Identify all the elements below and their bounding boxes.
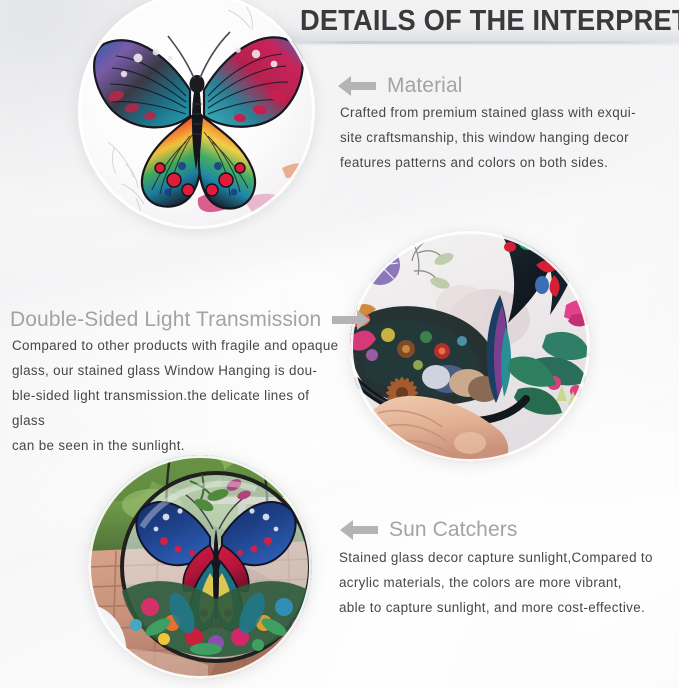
section-label-transmission: Double-Sided Light Transmission [10, 308, 321, 332]
section-label-suncatchers: Sun Catchers [389, 518, 517, 542]
section-heading-material: Material [337, 74, 463, 98]
hand-holding-glass-illustration [350, 231, 590, 462]
arrow-left-icon [339, 519, 379, 541]
body-line: site craftsmanship, this window hanging … [340, 125, 665, 150]
infographic-page: DETAILS OF THE INTERPRETATION [0, 0, 679, 688]
section-heading-transmission: Double-Sided Light Transmission [10, 308, 371, 332]
section-body-suncatchers: Stained glass decor capture sunlight,Com… [339, 545, 671, 620]
page-title: DETAILS OF THE INTERPRETATION [300, 3, 650, 39]
body-line: ble-sided light transmission.the delicat… [12, 383, 342, 433]
body-line: able to capture sunlight, and more cost-… [339, 595, 671, 620]
body-line: Crafted from premium stained glass with … [340, 100, 665, 125]
body-line: glass, our stained glass Window Hanging … [12, 358, 342, 383]
product-image-material [78, 0, 315, 229]
section-body-transmission: Compared to other products with fragile … [12, 333, 342, 458]
body-line: features patterns and colors on both sid… [340, 150, 665, 175]
outdoor-suncatcher-illustration [88, 455, 312, 679]
arrow-left-icon [337, 75, 377, 97]
product-image-transmission [350, 231, 590, 462]
section-body-material: Crafted from premium stained glass with … [340, 100, 665, 175]
section-heading-suncatchers: Sun Catchers [339, 518, 517, 542]
body-line: Compared to other products with fragile … [12, 333, 342, 358]
arrow-right-icon [331, 309, 371, 331]
body-line: acrylic materials, the colors are more v… [339, 570, 671, 595]
section-label-material: Material [387, 74, 463, 98]
butterfly-glass-illustration [78, 0, 315, 229]
body-line: Stained glass decor capture sunlight,Com… [339, 545, 671, 570]
body-line: can be seen in the sunlight. [12, 433, 342, 458]
product-image-suncatcher [88, 455, 312, 679]
